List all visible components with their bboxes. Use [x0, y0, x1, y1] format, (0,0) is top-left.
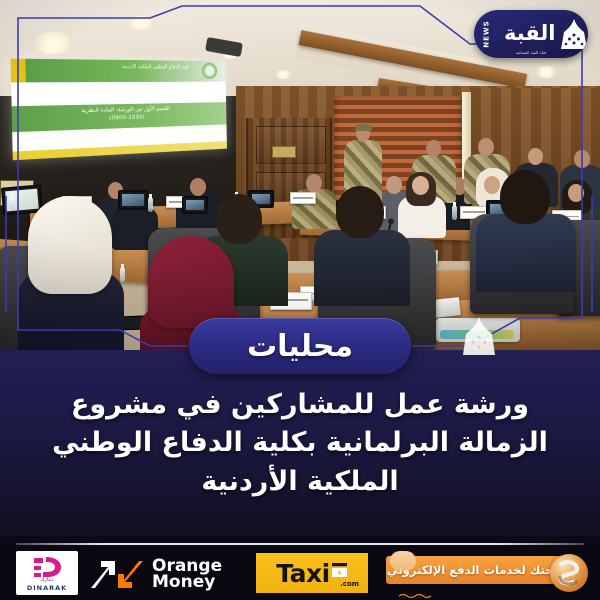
dome-icon: [559, 18, 588, 50]
beret-icon: [355, 124, 372, 131]
ceiling-light: [126, 16, 156, 30]
door-panel: [256, 126, 326, 164]
officer-head: [426, 140, 441, 157]
slide-header-text: كلية الدفاع الوطني الملكية الأردنية: [122, 64, 189, 70]
attendee-head: [568, 184, 584, 202]
channel-logo[interactable]: NEWS القبة قناة القبة الفضائية: [474, 10, 588, 58]
headline-panel: ورشة عمل للمشاركين في مشروع الزمالة البر…: [0, 350, 600, 536]
dinarak-arabic: دينارك: [16, 577, 78, 583]
attendee-head: [216, 194, 262, 244]
attendee-body: [314, 230, 410, 306]
payment-banner-text: راحتك لخدمات الدفع الإلكتروني: [387, 563, 564, 577]
sponsor-divider: [16, 543, 584, 545]
attendee-head: [386, 176, 402, 194]
ceiling-light: [274, 70, 292, 79]
projection-screen: كلية الدفاع الوطني الملكية الأردنية القس…: [11, 59, 227, 161]
category-badge[interactable]: محليات: [189, 318, 411, 374]
attendee-head: [528, 148, 543, 165]
sponsor-taxi[interactable]: Taxi .com: [256, 553, 368, 593]
slide-header: كلية الدفاع الوطني الملكية الأردنية: [11, 59, 226, 83]
sponsor-dinarak[interactable]: دينارك DINARAK: [16, 551, 78, 595]
water-bottle: [452, 206, 457, 220]
headline-text: ورشة عمل للمشاركين في مشروع الزمالة البر…: [24, 386, 576, 501]
name-placard: [290, 192, 316, 204]
slide-seal-icon: [202, 63, 217, 79]
hijab: [148, 236, 234, 328]
payment-squiggle-icon: [398, 584, 432, 590]
officer-head: [306, 174, 322, 192]
news-card: كلية الدفاع الوطني الملكية الأردنية القس…: [0, 0, 600, 600]
orange-money-line2: Money: [152, 572, 215, 592]
orange-money-wordmark: Orange Money: [152, 558, 222, 591]
attendee-head: [412, 176, 429, 195]
logo-subtitle: قناة القبة الفضائية: [474, 50, 588, 55]
attendee-body: [476, 214, 576, 292]
sponsor-orange-money[interactable]: Orange Money: [88, 554, 240, 594]
category-label: محليات: [247, 329, 353, 364]
logo-news-text: NEWS: [482, 20, 490, 47]
taxi-wordmark: Taxi: [276, 559, 329, 588]
dinarak-logo-icon: [30, 556, 64, 578]
hijab: [28, 196, 112, 294]
dome-watermark-icon: [460, 316, 498, 356]
attendee-head: [574, 150, 590, 168]
sponsor-bar: دينارك DINARAK Orange Money Taxi: [0, 546, 600, 600]
water-bottle: [148, 198, 153, 212]
logo-arabic-text: القبة: [504, 23, 556, 44]
desk-monitor: [118, 190, 148, 210]
attendee-head: [500, 170, 550, 224]
water-bottle: [120, 268, 125, 282]
desk-monitor: [182, 196, 208, 214]
sponsor-payment-services[interactable]: راحتك لخدمات الدفع الإلكتروني: [386, 554, 590, 592]
attendee-head: [190, 178, 206, 196]
attendee-head: [484, 176, 500, 194]
wall-plaque: [272, 146, 296, 158]
attendee-head: [336, 186, 384, 238]
dinarak-latin: DINARAK: [16, 584, 78, 592]
ceiling-light: [534, 66, 558, 78]
orange-money-arrows-icon: [88, 557, 146, 591]
officer-head: [478, 138, 494, 156]
payment-logo-icon: [550, 554, 588, 592]
water-bottle: [10, 196, 15, 210]
ceiling-light: [30, 32, 76, 54]
taxi-domain-suffix: .com: [340, 580, 359, 588]
